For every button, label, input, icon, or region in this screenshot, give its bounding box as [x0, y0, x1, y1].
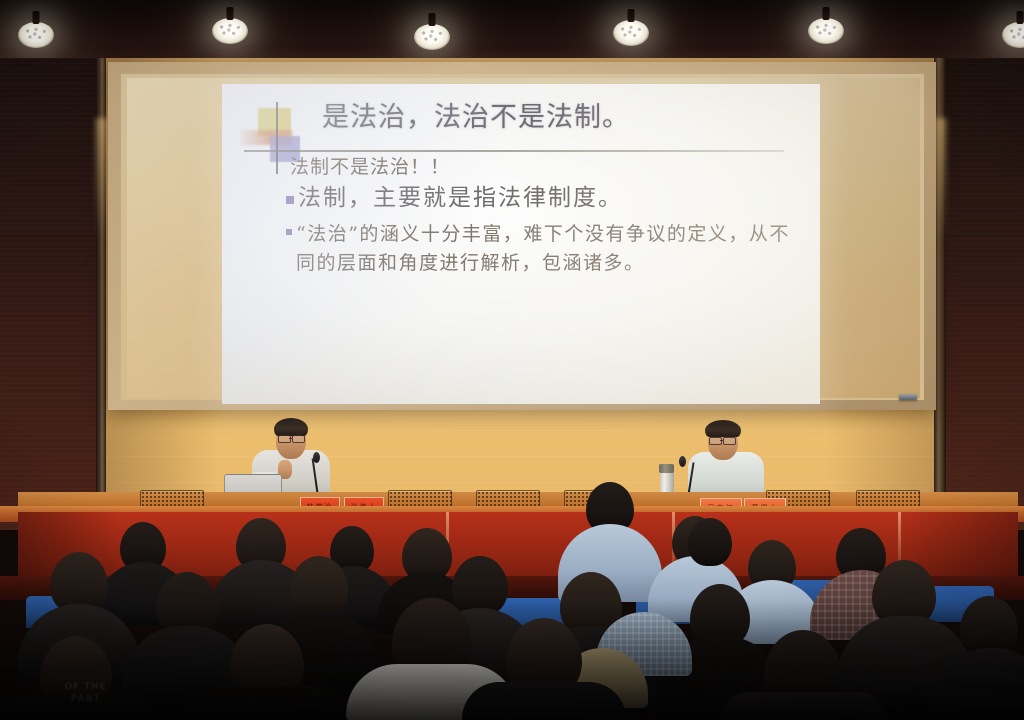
- audience-head: [290, 556, 348, 618]
- audience-head: [452, 556, 508, 616]
- audience-shoulders: [188, 686, 346, 720]
- tee-print-line-2: PANT: [36, 692, 136, 704]
- audience-shoulders: [462, 682, 626, 720]
- audience-head: [688, 518, 732, 566]
- tee-print-line-1: OF THE: [36, 680, 136, 692]
- audience-shoulders: [720, 692, 886, 720]
- audience-tee-print: OF THE PANT: [36, 680, 136, 704]
- lecture-hall-photo: 是法治，法治不是法制。 法制不是法治！！ 法制，主要就是指法律制度。 “法治”的…: [0, 0, 1024, 720]
- audience: OF THE PANT: [0, 0, 1024, 720]
